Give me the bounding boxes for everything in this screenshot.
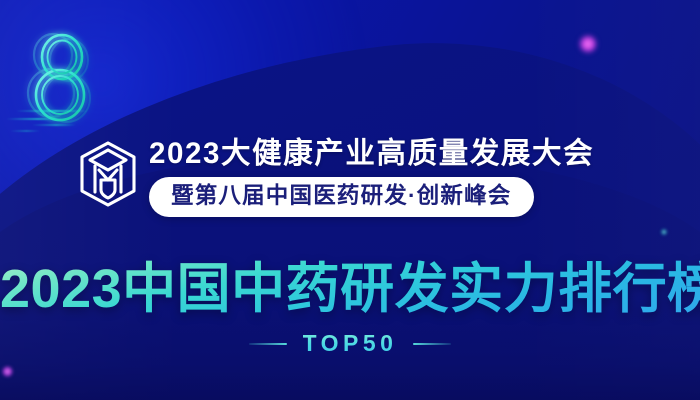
glow-dot-icon — [660, 228, 668, 236]
conference-title: 2023大健康产业高质量发展大会 — [149, 134, 623, 174]
poster-canvas: 2023大健康产业高质量发展大会 暨第八届中国医药研发·创新峰会 2023中国中… — [0, 0, 700, 400]
main-headline: 2023中国中药研发实力排行榜 — [0, 258, 700, 320]
glow-dot-icon — [2, 366, 13, 377]
neon-number-eight-icon — [12, 24, 108, 128]
motion-streak-icon — [6, 108, 126, 136]
rank-label-row: TOP50 — [0, 330, 700, 357]
conference-title-block: 2023大健康产业高质量发展大会 暨第八届中国医药研发·创新峰会 — [0, 134, 700, 220]
divider-line-left — [249, 343, 287, 345]
glow-dot-icon — [578, 34, 598, 54]
divider-line-right — [413, 343, 451, 345]
hexagon-cube-m-logo-icon — [77, 140, 139, 208]
main-headline-group: 2023中国中药研发实力排行榜 2023中国中药研发实力排行榜 — [0, 258, 700, 320]
conference-subtitle-pill: 暨第八届中国医药研发·创新峰会 — [149, 177, 534, 217]
conference-text-group: 2023大健康产业高质量发展大会 暨第八届中国医药研发·创新峰会 — [149, 134, 623, 217]
rank-label: TOP50 — [303, 330, 398, 357]
